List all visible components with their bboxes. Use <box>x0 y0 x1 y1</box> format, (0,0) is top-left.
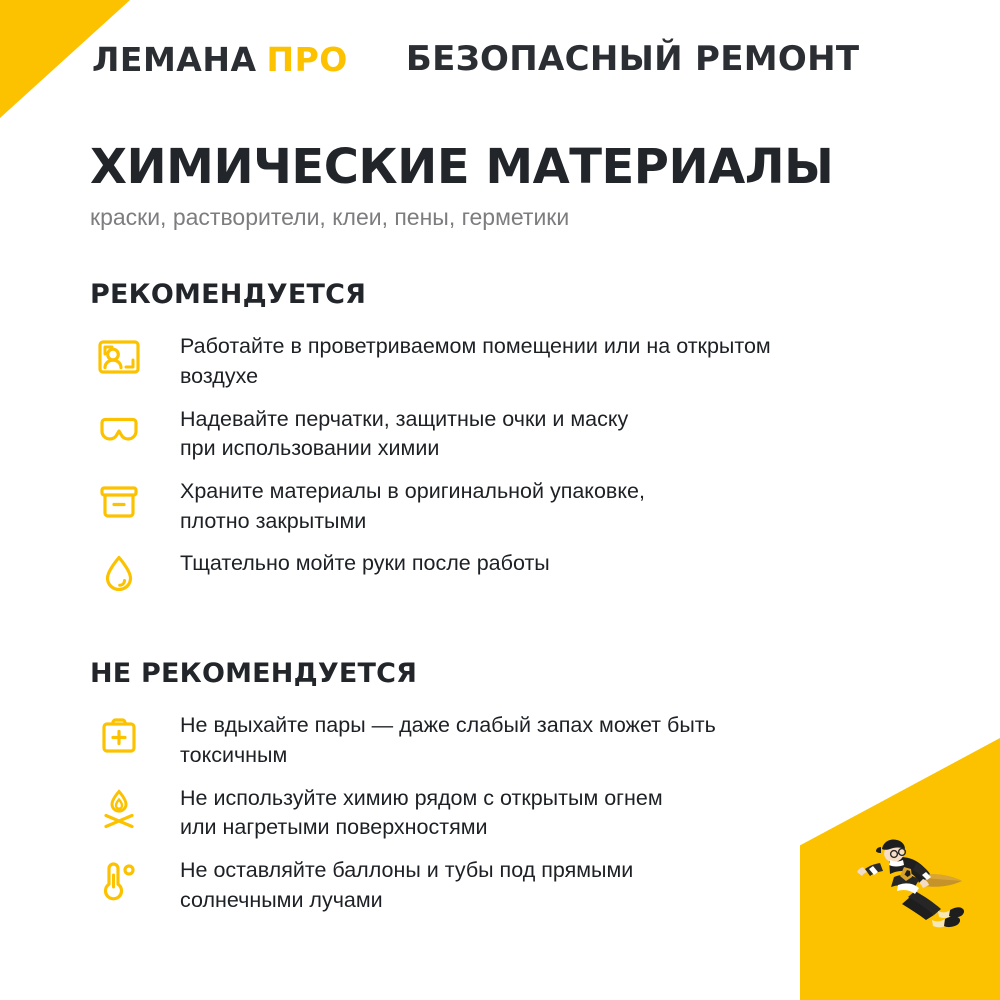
section-title-recommended: РЕКОМЕНДУЕТСЯ <box>90 279 1000 310</box>
list-item: Работайте в проветриваемом помещении или… <box>90 332 1000 391</box>
list-item: Надевайте перчатки, защитные очки и маск… <box>90 405 1000 464</box>
campaign-title: БЕЗОПАСНЫЙ РЕМОНТ <box>406 39 860 79</box>
storage-container-icon <box>90 477 148 531</box>
page-header: ЛЕМАНАПРО БЕЗОПАСНЫЙ РЕМОНТ <box>0 0 1000 118</box>
list-item-line1: Тщательно мойте руки после работы <box>180 551 550 575</box>
list-item-line1: Не вдыхайте пары — даже слабый запах мож… <box>180 713 716 737</box>
thermometer-heat-icon <box>90 856 148 910</box>
list-item-text: Тщательно мойте руки после работы <box>180 549 550 579</box>
page-subtitle: краски, растворители, клеи, пены, гермет… <box>90 204 1000 231</box>
safety-goggles-icon <box>90 405 148 459</box>
brand-logo-accent: ПРО <box>267 40 348 79</box>
list-item: Тщательно мойте руки после работы <box>90 549 1000 603</box>
brand-logo-primary: ЛЕМАНА <box>92 40 257 79</box>
flying-superhero-worker-mascot <box>832 827 982 952</box>
list-item-line2: при использовании химии <box>180 434 628 464</box>
brand-logo: ЛЕМАНАПРО <box>92 43 348 76</box>
list-item-text: Храните материалы в оригинальной упаковк… <box>180 477 645 536</box>
list-item-line1: Не оставляйте баллоны и тубы под прямыми <box>180 858 633 882</box>
first-aid-kit-icon <box>90 711 148 765</box>
list-item-text: Не используйте химию рядом с открытым ог… <box>180 784 663 843</box>
list-item-line2: плотно закрытыми <box>180 507 645 537</box>
list-item: Храните материалы в оригинальной упаковк… <box>90 477 1000 536</box>
open-window-ventilation-icon <box>90 332 148 386</box>
list-item-line2: солнечными лучами <box>180 886 633 916</box>
main-content: ХИМИЧЕСКИЕ МАТЕРИАЛЫ краски, растворител… <box>0 118 1000 928</box>
list-item-line1: Работайте в проветриваемом помещении или… <box>180 334 771 358</box>
list-item: Не вдыхайте пары — даже слабый запах мож… <box>90 711 1000 770</box>
list-item-text: Надевайте перчатки, защитные очки и маск… <box>180 405 628 464</box>
list-item-text: Не оставляйте баллоны и тубы под прямыми… <box>180 856 633 915</box>
list-item-line1: Храните материалы в оригинальной упаковк… <box>180 479 645 503</box>
list-item-line2: токсичным <box>180 741 716 771</box>
list-item-text: Не вдыхайте пары — даже слабый запах мож… <box>180 711 716 770</box>
section-recommended: РЕКОМЕНДУЕТСЯ Работайте в проветриваемом… <box>0 279 1000 603</box>
water-droplet-icon <box>90 549 148 603</box>
list-item-line1: Надевайте перчатки, защитные очки и маск… <box>180 407 628 431</box>
list-item-line2: или нагретыми поверхностями <box>180 813 663 843</box>
section-title-not-recommended: НЕ РЕКОМЕНДУЕТСЯ <box>90 658 1000 689</box>
list-item-line1: Не используйте химию рядом с открытым ог… <box>180 786 663 810</box>
page-title: ХИМИЧЕСКИЕ МАТЕРИАЛЫ <box>90 142 1000 192</box>
title-block: ХИМИЧЕСКИЕ МАТЕРИАЛЫ краски, растворител… <box>0 118 1000 231</box>
campfire-open-flame-icon <box>90 784 148 838</box>
list-item-text: Работайте в проветриваемом помещении или… <box>180 332 771 391</box>
list-item-line2: воздухе <box>180 362 771 392</box>
